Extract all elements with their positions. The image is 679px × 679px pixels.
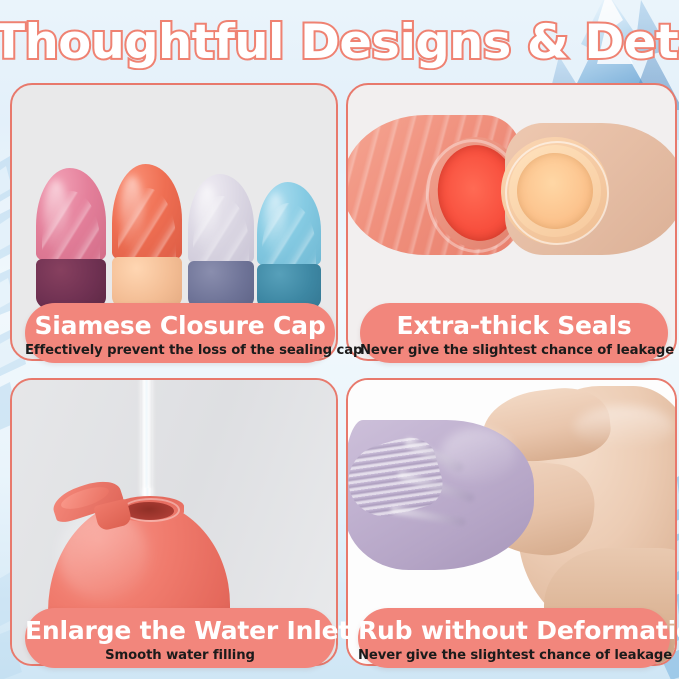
product-pink-bottle [36,168,106,314]
bottle-highlight [265,193,287,259]
card-1-subtext: Effectively prevent the loss of the seal… [25,341,335,361]
bottle-highlight [440,428,516,482]
card-4-subtext: Never give the slightest chance of leaka… [358,646,670,666]
product-blue-bottle [257,182,321,314]
product-lavender-bottle [188,174,254,314]
card-2-headline: Extra-thick Seals [360,310,668,341]
product-peach-seal-body [505,123,675,255]
page-title: Thoughtful Designs & Details [0,14,679,72]
caption-pill-card-2: Extra-thick Seals Never give the slighte… [360,303,668,363]
page-title-wrapper: Thoughtful Designs & Details [0,14,679,76]
product-coral-seal-body [348,115,522,255]
card-1-headline: Siamese Closure Cap [25,310,335,341]
card-3-headline: Enlarge the Water Inlet [25,615,335,646]
card-3-subtext: Smooth water filling [25,646,335,666]
card-4-headline: Rub without Deformation [358,615,670,646]
caption-pill-card-3: Enlarge the Water Inlet Smooth water fil… [25,608,335,668]
caption-pill-card-1: Siamese Closure Cap Effectively prevent … [25,303,335,363]
inlet-rim-highlight [122,498,180,522]
product-infographic: Thoughtful Designs & Details [0,0,679,679]
card-2-subtext: Never give the slightest chance of leaka… [360,341,668,361]
bottle-highlight [44,180,68,253]
caption-pill-card-4: Rub without Deformation Never give the s… [358,608,670,668]
product-coral-bottle [112,164,182,314]
product-lavender-folded-bottle [348,420,534,570]
hand-highlight [574,406,674,448]
water-stream [141,380,152,496]
